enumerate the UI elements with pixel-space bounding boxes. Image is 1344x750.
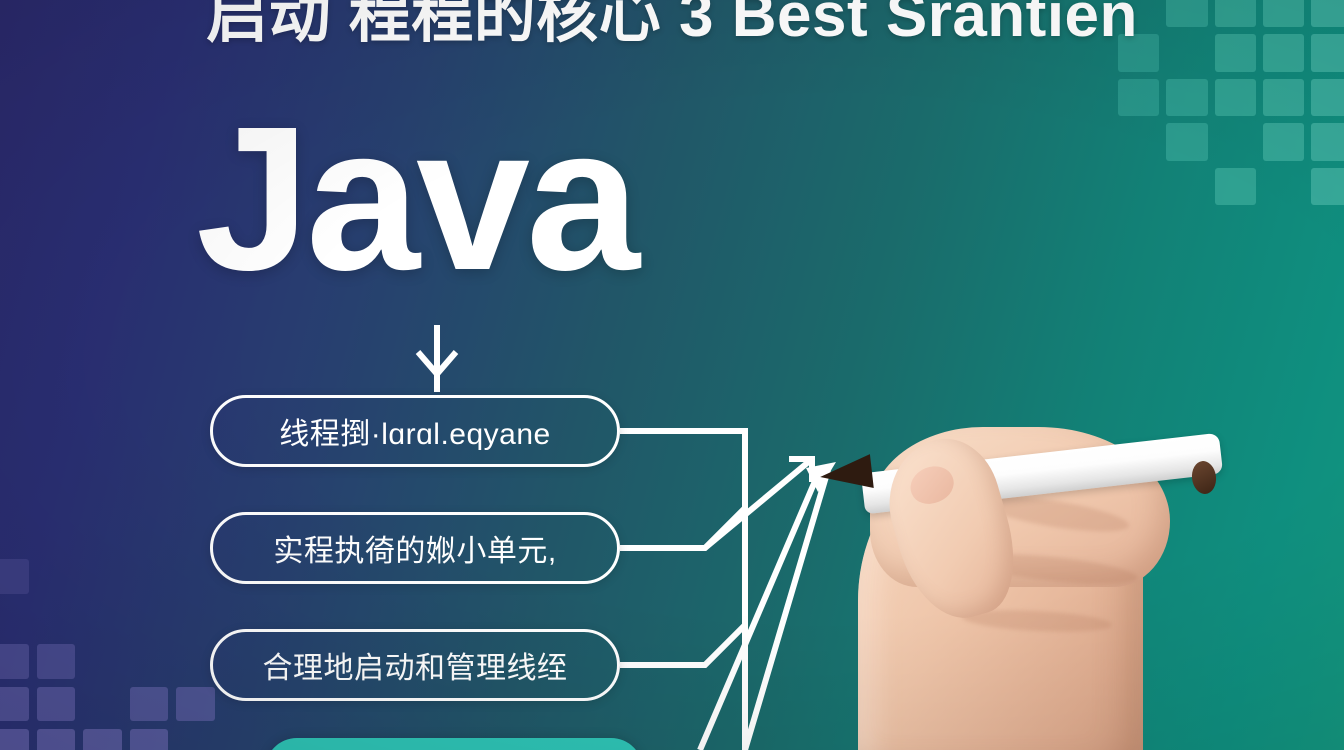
decor-square: [1166, 123, 1207, 160]
decor-square: [1215, 123, 1256, 160]
flow-item-1[interactable]: 线程捯·lɑrɑl.eqyane: [210, 395, 620, 467]
hero-word-java: Java: [196, 96, 636, 301]
flow-item-3[interactable]: 合理地启动和管理线绖: [210, 629, 620, 701]
finger-crease: [962, 607, 1113, 635]
decor-square: [37, 729, 76, 750]
converging-arrows: [700, 459, 836, 750]
decor-square: [83, 687, 122, 722]
decor-square: [83, 559, 122, 594]
arrow-b-shaft: [700, 474, 818, 750]
decor-square: [0, 559, 29, 594]
decor-square: [37, 644, 76, 679]
palm: [858, 451, 1143, 750]
decor-square: [130, 559, 169, 594]
decor-square: [1311, 79, 1344, 116]
decor-square: [1118, 79, 1159, 116]
decor-square: [1311, 168, 1344, 205]
flow-item-2[interactable]: 实程执徛的娰小单元,: [210, 512, 620, 584]
decor-square: [1070, 123, 1111, 160]
arrow-b-head: [806, 462, 836, 492]
decor-square: [37, 687, 76, 722]
decor-square: [130, 644, 169, 679]
thumbnail: [905, 460, 959, 510]
decor-square: [1022, 79, 1063, 116]
decor-square: [1263, 168, 1304, 205]
decor-square: [176, 729, 215, 750]
decor-square: [0, 729, 29, 750]
pen-cap-end: [1190, 460, 1218, 496]
decor-square: [0, 644, 29, 679]
flow-item-2-label: 实程执徛的娰小单元,: [273, 526, 556, 570]
decor-square: [130, 602, 169, 637]
decor-square: [1311, 123, 1344, 160]
decor-square: [1118, 168, 1159, 205]
decor-square: [1070, 168, 1111, 205]
down-arrow-head: [418, 352, 456, 374]
decor-square: [130, 687, 169, 722]
finger-crease: [979, 489, 1131, 538]
decor-square: [1022, 123, 1063, 160]
decor-square: [1118, 123, 1159, 160]
decor-square: [1263, 79, 1304, 116]
decor-square: [176, 602, 215, 637]
decor-square: [130, 729, 169, 750]
decor-square: [1215, 79, 1256, 116]
flow-item-3-label: 合理地启动和管理线绖: [263, 643, 568, 687]
trunk-line: [620, 431, 745, 750]
thumb: [873, 427, 1030, 631]
pen-tip: [818, 454, 874, 494]
decor-square: [0, 602, 29, 637]
decor-square: [83, 644, 122, 679]
decor-square: [176, 687, 215, 722]
decor-square: [1070, 79, 1111, 116]
decor-square: [1215, 168, 1256, 205]
decor-square: [37, 602, 76, 637]
pen-body: [861, 433, 1223, 514]
decor-square: [83, 602, 122, 637]
flow-item-4[interactable]: [265, 738, 643, 750]
knuckles: [870, 427, 1170, 587]
decor-square: [1263, 123, 1304, 160]
decor-square: [176, 559, 215, 594]
finger-crease: [967, 548, 1139, 590]
decor-square: [1166, 168, 1207, 205]
connector-pill-3: [620, 625, 745, 665]
decor-square: [37, 559, 76, 594]
decor-square: [83, 729, 122, 750]
hand-holding-pen: [800, 405, 1344, 750]
arrow-a-head: [789, 459, 812, 482]
page-title: 启动 程程的核心 3 Best Srantien: [0, 0, 1344, 54]
mosaic-squares-bottom-left: [0, 559, 215, 750]
connector-pill-2: [620, 508, 745, 548]
decor-square: [1022, 168, 1063, 205]
poster-canvas: 启动 程程的核心 3 Best Srantien Java 线程捯·lɑrɑl.…: [0, 0, 1344, 750]
decor-square: [1166, 79, 1207, 116]
arrow-b-shaft-2: [745, 470, 828, 750]
arrow-a-shaft: [705, 459, 812, 548]
flow-item-1-label: 线程捯·lɑrɑl.eqyane: [279, 409, 550, 453]
decor-square: [0, 687, 29, 722]
